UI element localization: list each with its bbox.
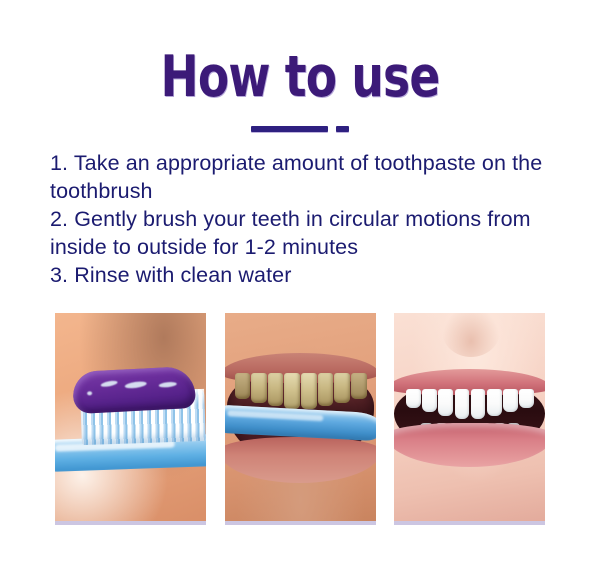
- divider-long-dash: [251, 126, 328, 132]
- how-to-use-infographic: How to use 1. Take an appropriate amount…: [0, 0, 600, 588]
- divider-short-dash: [336, 126, 349, 132]
- purple-toothpaste-icon: [72, 366, 196, 414]
- white-teeth-row-upper: [406, 389, 534, 419]
- title-divider: [0, 126, 600, 132]
- photo-toothbrush-with-toothpaste: [55, 313, 206, 525]
- stained-teeth-row: [235, 373, 367, 409]
- photo-stained-teeth: [225, 313, 376, 525]
- instruction-step-1: 1. Take an appropriate amount of toothpa…: [50, 150, 570, 205]
- photo-white-smile: [394, 313, 545, 525]
- instruction-step-2: 2. Gently brush your teeth in circular m…: [50, 206, 570, 261]
- instruction-step-3: 3. Rinse with clean water: [50, 262, 570, 290]
- photo-strip: [55, 313, 545, 525]
- page-title: How to use: [60, 46, 540, 108]
- instruction-steps: 1. Take an appropriate amount of toothpa…: [50, 150, 570, 291]
